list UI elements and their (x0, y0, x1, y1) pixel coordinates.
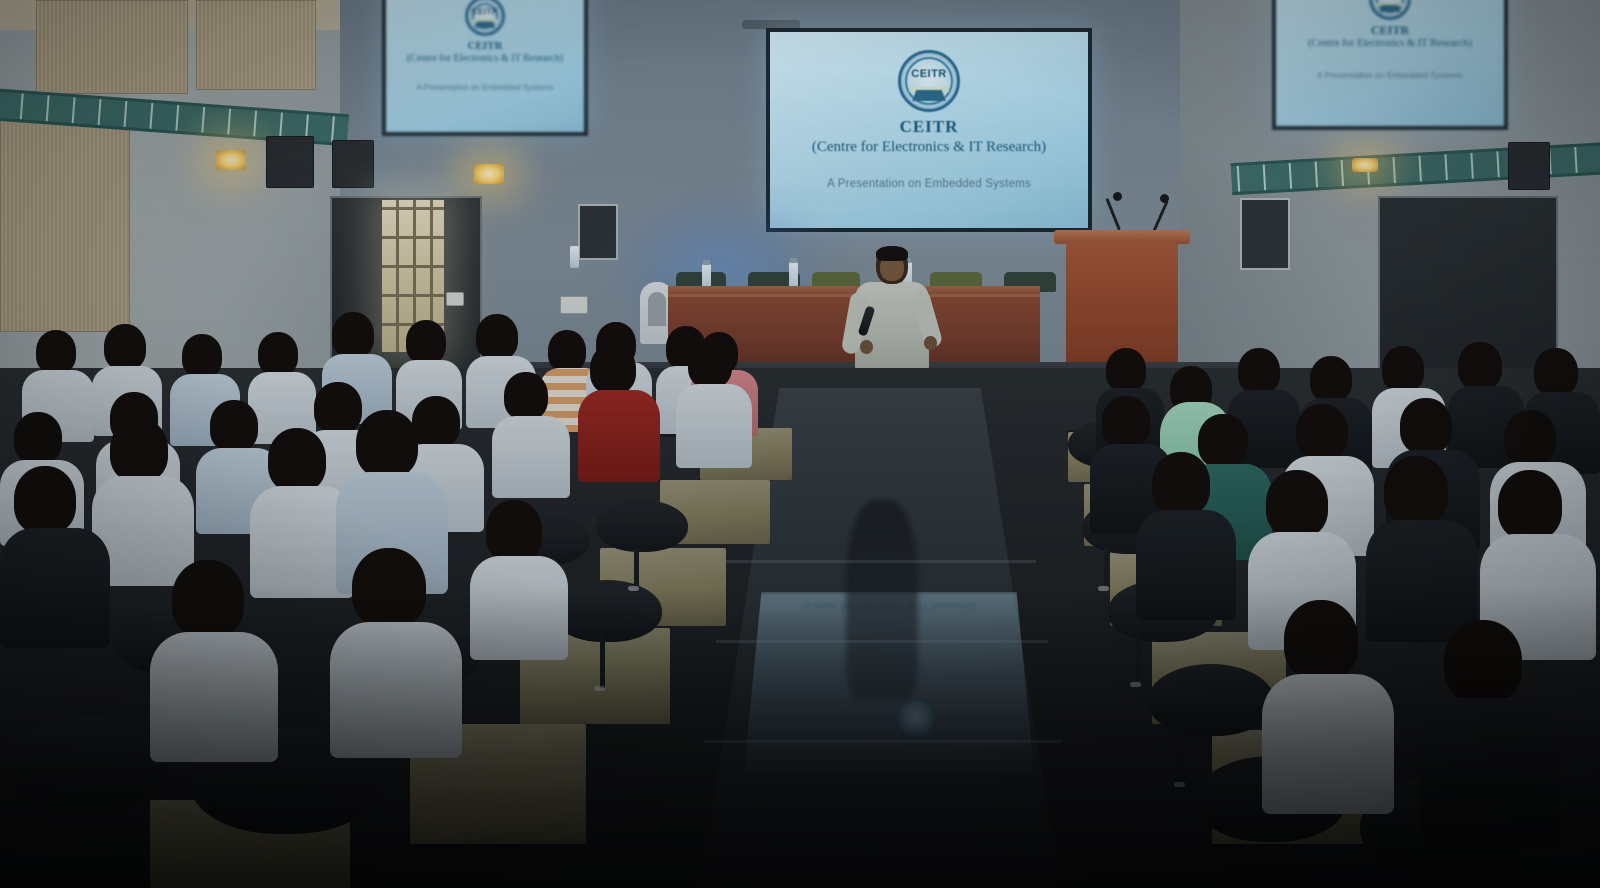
slide-subtitle: (Centre for Electronics & IT Research) (407, 53, 563, 65)
auditorium-seat (1148, 664, 1274, 736)
slide-tagline: A Presentation on Embedded Systems (827, 178, 1031, 190)
seat-foot (628, 586, 639, 591)
left-side-screen-surface: CEITR CEITR (Centre for Electronics & IT… (386, 0, 584, 132)
person-head (110, 418, 168, 482)
slide-tagline: A Presentation on Embedded Systems (1317, 70, 1463, 80)
right-side-screen: CEITR CEITR (Centre for Electronics & IT… (1272, 0, 1508, 130)
slide-subtitle: (Centre for Electronics & IT Research) (812, 139, 1046, 156)
person-torso (150, 632, 278, 762)
person-head (1400, 398, 1452, 454)
person-head (1534, 348, 1578, 396)
person-head (1238, 348, 1280, 394)
electrical-socket (560, 296, 588, 314)
person-head (332, 312, 374, 358)
person-head (1458, 342, 1502, 390)
person-head (314, 382, 362, 434)
person-torso (330, 622, 462, 758)
seat-foot (1130, 682, 1141, 687)
person-head (356, 410, 418, 478)
person-head (504, 372, 548, 420)
person-head (688, 340, 732, 388)
person-head (1444, 620, 1522, 704)
ceitr-logo-icon: CEITR (465, 0, 505, 36)
water-bottle (570, 246, 579, 268)
wall-sconce-light (216, 150, 246, 170)
presenter-head (876, 246, 908, 284)
logo-base (912, 90, 946, 101)
logo-label: CEITR (911, 69, 947, 80)
auditorium-seat (552, 580, 662, 642)
right-side-screen-surface: CEITR CEITR (Centre for Electronics & IT… (1276, 0, 1504, 126)
logo-base (1379, 5, 1401, 12)
person-torso (578, 390, 660, 482)
auditorium-seat (596, 500, 688, 552)
wall-speaker (332, 140, 374, 188)
wall-niche (1240, 198, 1290, 270)
bottle-cap (790, 258, 797, 263)
seat-foot (1174, 782, 1185, 787)
left-side-screen: CEITR CEITR (Centre for Electronics & IT… (382, 0, 588, 136)
ceitr-logo-icon: CEITR (898, 50, 960, 112)
person-head (210, 400, 258, 452)
person-head (1106, 348, 1146, 392)
ceitr-logo-icon: CEITR (1369, 0, 1411, 20)
person-head (1102, 396, 1150, 448)
acoustic-panel (196, 0, 316, 90)
presenter-hair (876, 246, 908, 261)
person-head (486, 500, 542, 562)
presenter-hand-left (860, 340, 873, 354)
person-head (1296, 404, 1348, 460)
person-head (14, 466, 76, 534)
microphone-capsule (1113, 192, 1122, 201)
person-head (1504, 410, 1556, 466)
seat-leg (1180, 724, 1185, 784)
seat-leg (1136, 634, 1141, 684)
person-torso (1366, 520, 1478, 642)
person-head (548, 330, 586, 372)
bottle-cap (703, 260, 710, 265)
person-head (258, 332, 298, 376)
wall-sconce-light (474, 164, 504, 184)
person-head (476, 314, 518, 360)
step-edge (704, 740, 1062, 743)
logo-base (475, 21, 495, 28)
person-head (1266, 470, 1328, 538)
floor-reflection-presenter (846, 500, 918, 700)
seat-leg (634, 548, 639, 588)
person-head (1284, 600, 1358, 680)
person-head (1310, 356, 1352, 402)
person-torso (1262, 674, 1394, 814)
seat-foot (1098, 586, 1109, 591)
person-head (590, 344, 636, 394)
person-head (1152, 452, 1210, 516)
person-head (36, 330, 76, 374)
auditorium-seat (0, 716, 170, 812)
microphone-capsule (1160, 194, 1169, 203)
person-torso (1420, 698, 1560, 846)
slide-title: CEITR (1371, 24, 1409, 37)
person-head (1198, 414, 1248, 468)
wall-speaker (266, 136, 314, 188)
floor-reflection-logo (898, 700, 934, 736)
logo-label: CEITR (472, 8, 499, 16)
person-torso (470, 556, 568, 660)
person-head (14, 412, 62, 464)
electrical-socket (446, 292, 464, 306)
person-head (104, 324, 146, 370)
person-head (268, 428, 326, 492)
person-head (412, 396, 460, 448)
person-torso (676, 384, 752, 468)
seat-foot (594, 686, 605, 691)
person-head (1382, 346, 1424, 392)
person-head (406, 320, 446, 364)
step-edge (726, 560, 1036, 563)
slide-tagline: A Presentation on Embedded Systems (417, 83, 554, 92)
person-torso (492, 416, 570, 498)
main-screen-surface: CEITR CEITR (Centre for Electronics & IT… (770, 32, 1088, 228)
person-torso (1136, 510, 1236, 620)
acoustic-panel (0, 120, 130, 332)
person-torso (0, 528, 110, 648)
wall-sconce-light (1352, 158, 1378, 172)
person-head (172, 560, 244, 638)
person-head (1498, 470, 1562, 540)
step-edge (716, 640, 1048, 643)
main-screen: CEITR CEITR (Centre for Electronics & IT… (766, 28, 1092, 232)
presenter-hand-right (924, 336, 937, 350)
seat-leg (1104, 548, 1109, 588)
acoustic-panel (36, 0, 188, 94)
seat-leg (600, 636, 605, 688)
person-head (352, 548, 426, 628)
slide-subtitle: (Centre for Electronics & IT Research) (1308, 38, 1472, 50)
person-head (182, 334, 222, 378)
slide-title: CEITR (468, 40, 503, 52)
auditorium-photo: CEITR CEITR (Centre for Electronics & IT… (0, 0, 1600, 888)
slide-title: CEITR (900, 118, 959, 137)
person-head (1384, 456, 1448, 526)
wall-speaker (1508, 142, 1550, 190)
